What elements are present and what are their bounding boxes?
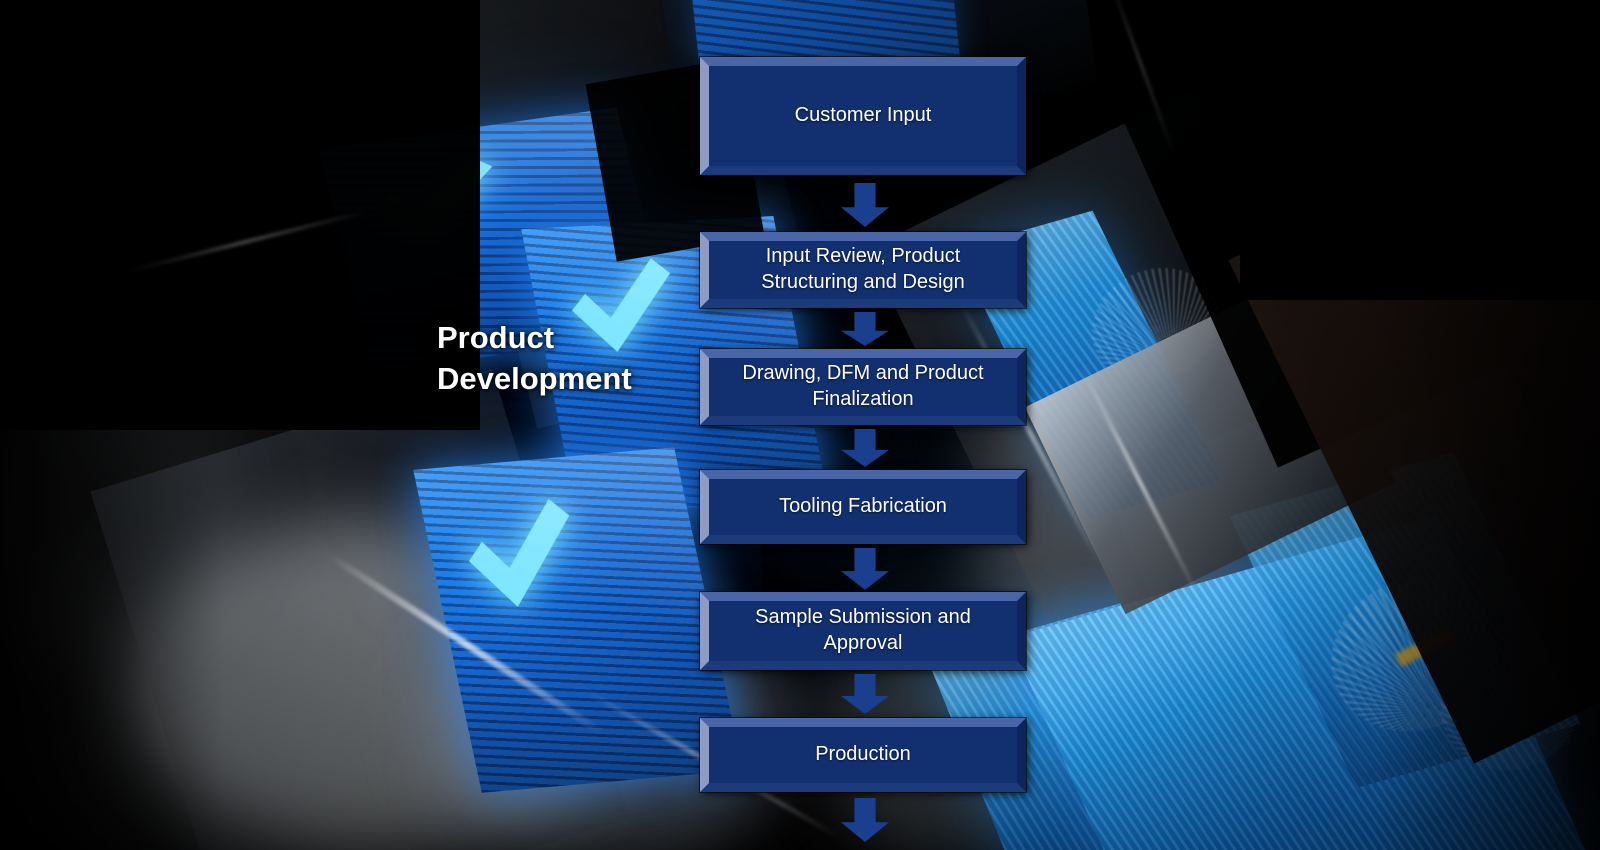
- down-arrow-icon: [841, 183, 889, 227]
- flow-step-label: Customer Input: [795, 103, 932, 129]
- background-wedge: [1240, 0, 1600, 300]
- down-arrow-icon: [841, 429, 889, 467]
- checkmark-icon: [446, 490, 593, 630]
- flow-step-drawing-dfm[interactable]: Drawing, DFM and Product Finalization: [700, 349, 1026, 425]
- slide-canvas: Product Development Customer Input Input…: [0, 0, 1600, 850]
- page-title: Product Development: [437, 318, 687, 400]
- flow-step-label: Input Review, Product Structuring and De…: [761, 244, 964, 295]
- flow-step-customer-input[interactable]: Customer Input: [700, 57, 1026, 175]
- flow-step-label: Sample Submission and Approval: [755, 605, 971, 656]
- down-arrow-icon: [841, 674, 889, 714]
- down-arrow-icon: [841, 312, 889, 346]
- flow-step-label: Tooling Fabrication: [779, 494, 947, 520]
- down-arrow-icon: [841, 548, 889, 590]
- flow-step-label: Production: [815, 742, 911, 768]
- flow-step-production[interactable]: Production: [700, 718, 1026, 792]
- flow-step-sample-submission[interactable]: Sample Submission and Approval: [700, 592, 1026, 670]
- flow-step-tooling-fabrication[interactable]: Tooling Fabrication: [700, 470, 1026, 544]
- flow-step-input-review[interactable]: Input Review, Product Structuring and De…: [700, 232, 1026, 308]
- down-arrow-icon: [841, 798, 889, 842]
- process-flowchart: Customer Input Input Review, Product Str…: [700, 0, 1030, 850]
- background-wedge: [0, 0, 480, 430]
- flow-step-label: Drawing, DFM and Product Finalization: [742, 361, 983, 412]
